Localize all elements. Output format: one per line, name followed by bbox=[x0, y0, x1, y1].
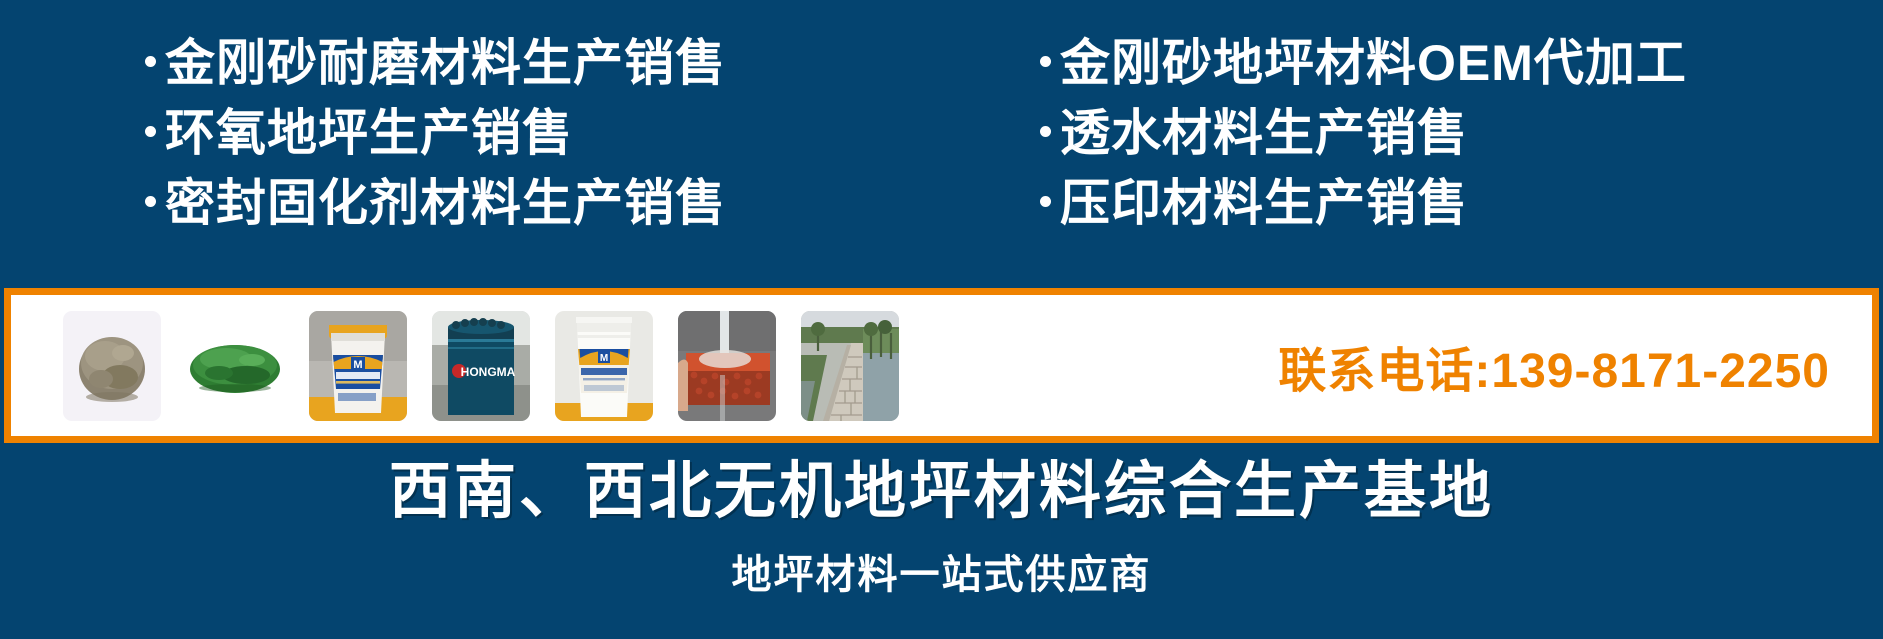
bullet-dot-icon bbox=[1040, 196, 1051, 207]
feature-label: 环氧地坪生产销售 bbox=[165, 98, 573, 168]
gray-abrasive-powder-photo bbox=[63, 311, 161, 421]
svg-text:M: M bbox=[353, 359, 362, 371]
svg-text:HONGMA: HONGMA bbox=[461, 365, 516, 379]
permeable-concrete-sample-photo bbox=[678, 311, 776, 421]
headline: 西南、西北无机地坪材料综合生产基地 bbox=[0, 452, 1883, 532]
feature-item: 环氧地坪生产销售 bbox=[145, 98, 880, 168]
feature-item: 金刚砂耐磨材料生产销售 bbox=[145, 28, 880, 98]
feature-label: 密封固化剂材料生产销售 bbox=[165, 168, 726, 238]
contact-phone-text: 联系电话:139-8171-2250 bbox=[1278, 345, 1830, 398]
contact-phone[interactable]: 联系电话:139-8171-2250 bbox=[924, 331, 1872, 401]
feature-label: 压印材料生产销售 bbox=[1060, 168, 1468, 238]
hongma-steel-drum-photo: HONGMA bbox=[432, 311, 530, 421]
feature-item: 压印材料生产销售 bbox=[1040, 168, 1883, 238]
bullet-dot-icon bbox=[145, 126, 156, 137]
advertising-banner: 金刚砂耐磨材料生产销售 环氧地坪生产销售 密封固化剂材料生产销售 金刚砂地坪材料… bbox=[0, 0, 1883, 639]
feature-item: 密封固化剂材料生产销售 bbox=[145, 168, 880, 238]
sealer-curing-agent-bucket-photo: M bbox=[309, 311, 407, 421]
stamped-concrete-path-photo bbox=[801, 311, 899, 421]
feature-column-right: 金刚砂地坪材料OEM代加工 透水材料生产销售 压印材料生产销售 bbox=[880, 28, 1883, 238]
bullet-dot-icon bbox=[145, 196, 156, 207]
feature-item: 金刚砂地坪材料OEM代加工 bbox=[1040, 28, 1883, 98]
product-strip: M bbox=[4, 288, 1879, 443]
feature-column-left: 金刚砂耐磨材料生产销售 环氧地坪生产销售 密封固化剂材料生产销售 bbox=[0, 28, 880, 238]
subheadline: 地坪材料一站式供应商 bbox=[0, 548, 1883, 602]
svg-text:M: M bbox=[600, 353, 608, 364]
product-thumbnail-list: M bbox=[11, 295, 924, 436]
feature-item: 透水材料生产销售 bbox=[1040, 98, 1883, 168]
epoxy-floor-coating-bucket-photo: M bbox=[555, 311, 653, 421]
feature-label: 透水材料生产销售 bbox=[1060, 98, 1468, 168]
feature-lists: 金刚砂耐磨材料生产销售 环氧地坪生产销售 密封固化剂材料生产销售 金刚砂地坪材料… bbox=[0, 28, 1883, 278]
bullet-dot-icon bbox=[145, 56, 156, 67]
green-abrasive-powder-photo bbox=[186, 311, 284, 421]
bullet-dot-icon bbox=[1040, 56, 1051, 67]
feature-label: 金刚砂耐磨材料生产销售 bbox=[165, 28, 726, 98]
feature-label: 金刚砂地坪材料OEM代加工 bbox=[1060, 28, 1687, 98]
bullet-dot-icon bbox=[1040, 126, 1051, 137]
